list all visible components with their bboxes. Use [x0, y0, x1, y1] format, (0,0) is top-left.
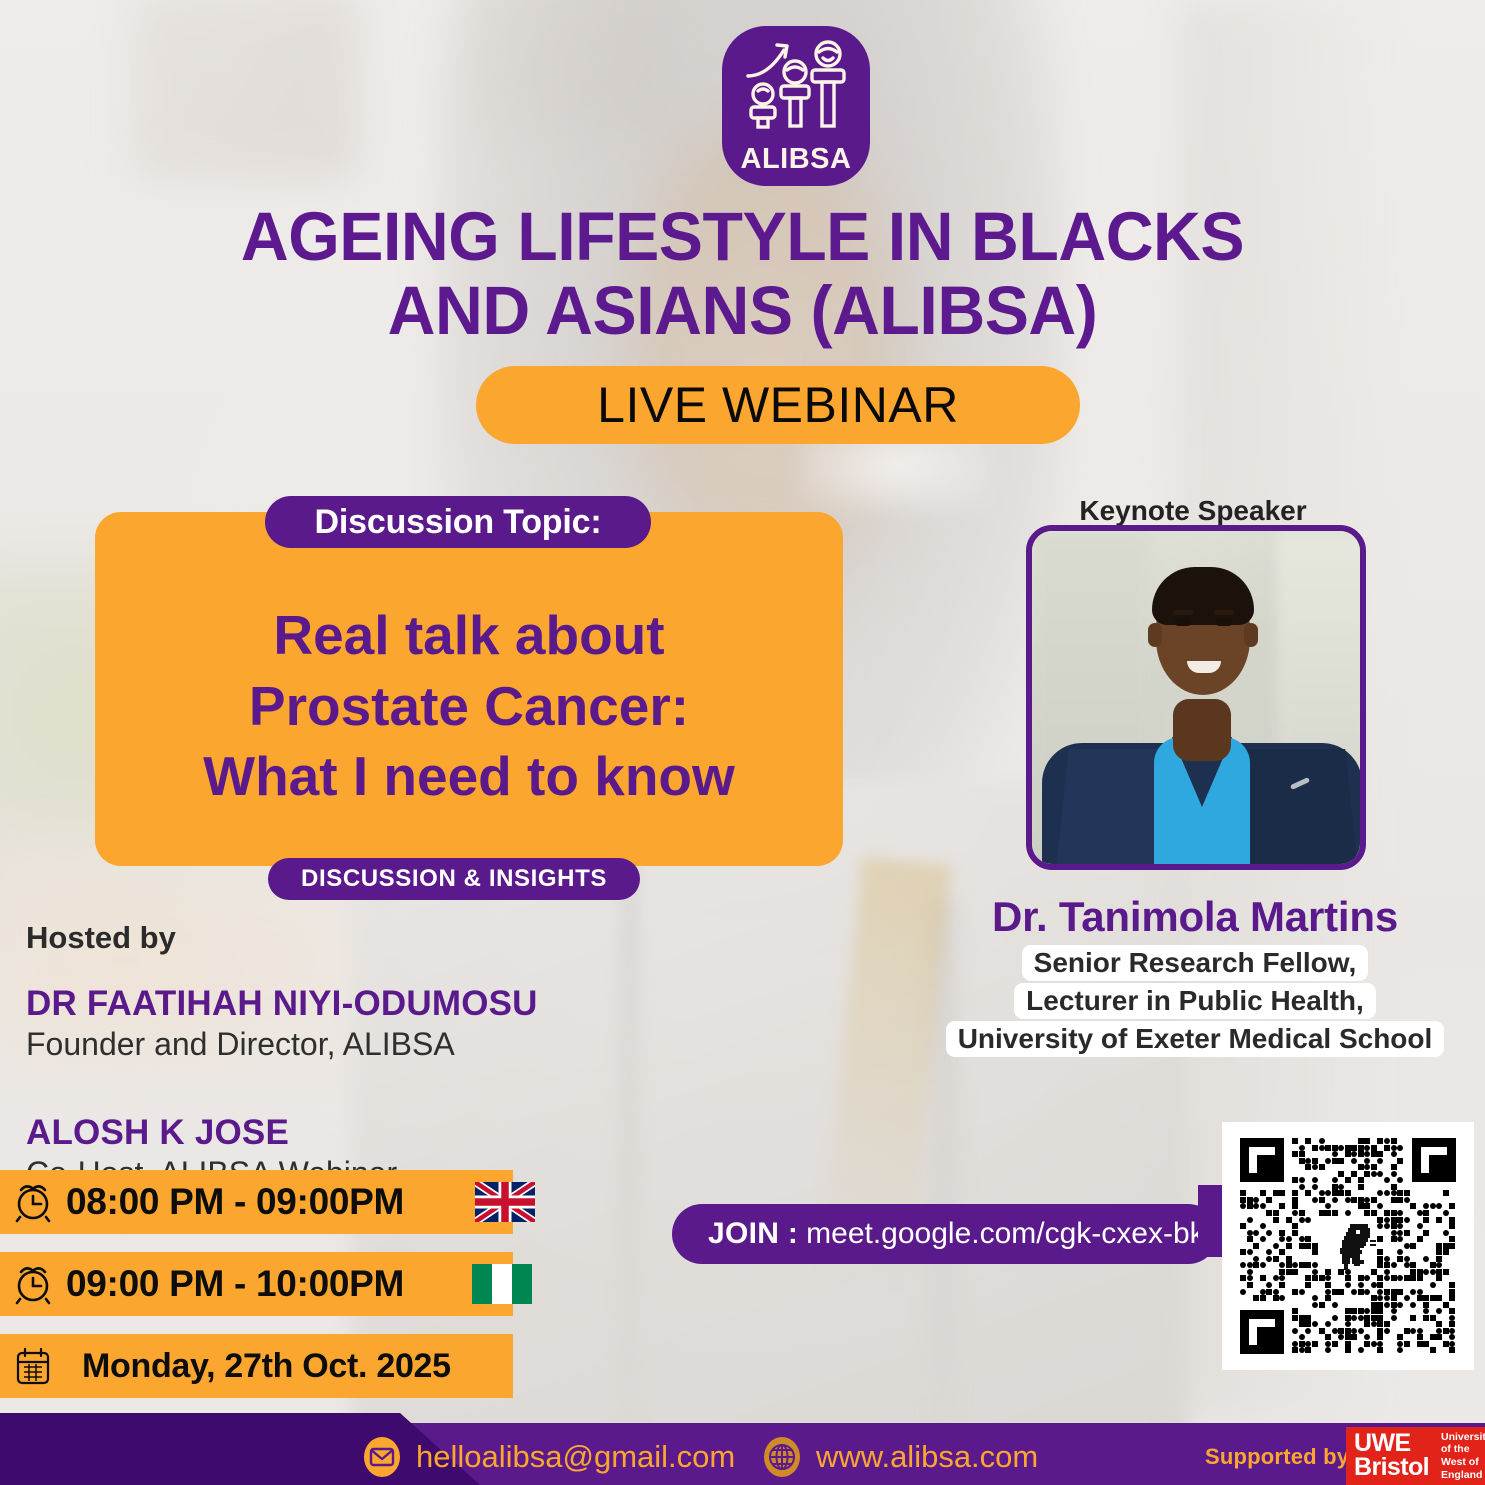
- live-webinar-label: LIVE WEBINAR: [597, 376, 959, 434]
- join-link-bar[interactable]: JOIN : meet.google.com/cgk-cxex-bkf: [672, 1204, 1218, 1264]
- host-role-1: Founder and Director, ALIBSA: [26, 1026, 666, 1063]
- join-label: JOIN :: [708, 1217, 798, 1251]
- discussion-topic-card: Real talk about Prostate Cancer: What I …: [95, 512, 843, 866]
- alarm-clock-icon: [0, 1180, 66, 1224]
- footer-email-text: helloalibsa@gmail.com: [416, 1439, 735, 1475]
- speaker-credentials: Senior Research Fellow, Lecturer in Publ…: [930, 945, 1460, 1057]
- uwe-bristol-logo: UWE Bristol Universityof theWest ofEngla…: [1346, 1427, 1485, 1485]
- speaker-name: Dr. Tanimola Martins: [950, 893, 1440, 941]
- live-webinar-badge: LIVE WEBINAR: [476, 366, 1080, 444]
- dinosaur-icon: [1326, 1222, 1378, 1272]
- logo-wordmark: ALIBSA: [741, 143, 852, 176]
- discussion-topic-label: Discussion Topic:: [315, 503, 602, 542]
- title-line-1: AGEING LIFESTYLE IN BLACKS: [30, 200, 1456, 274]
- envelope-icon: [362, 1435, 402, 1479]
- speaker-credential-2: Lecturer in Public Health,: [1014, 983, 1376, 1019]
- join-url[interactable]: meet.google.com/cgk-cxex-bkf: [806, 1217, 1213, 1251]
- footer-website[interactable]: www.alibsa.com: [762, 1435, 1038, 1479]
- discussion-topic-badge: Discussion Topic:: [265, 496, 651, 548]
- nigeria-time-text: 09:00 PM - 10:00PM: [66, 1263, 404, 1305]
- topic-line-2: Prostate Cancer:: [203, 671, 735, 741]
- calendar-icon: [0, 1345, 66, 1387]
- family-growth-icon: [740, 36, 852, 141]
- host-name-1: DR FAATIHAH NIYI-ODUMOSU: [26, 984, 666, 1024]
- footer-email[interactable]: helloalibsa@gmail.com: [362, 1435, 735, 1479]
- uk-flag-icon: [475, 1182, 535, 1222]
- schedule-row-uk-time: 08:00 PM - 09:00PM: [0, 1170, 513, 1234]
- supported-by-label: Supported by:: [1205, 1444, 1357, 1470]
- discussion-insights-badge: DISCUSSION & INSIGHTS: [268, 858, 640, 900]
- alibsa-logo: ALIBSA: [722, 26, 870, 186]
- speaker-credential-1: Senior Research Fellow,: [1022, 945, 1369, 981]
- title-line-2: AND ASIANS (ALIBSA): [30, 274, 1456, 348]
- hosted-by-label: Hosted by: [26, 920, 666, 956]
- qr-code[interactable]: [1222, 1122, 1474, 1370]
- uwe-logo-subtitle: Universityof theWest ofEngland: [1441, 1431, 1485, 1481]
- footer-website-text: www.alibsa.com: [816, 1439, 1038, 1475]
- page-title: AGEING LIFESTYLE IN BLACKS AND ASIANS (A…: [30, 200, 1456, 348]
- speaker-credential-3: University of Exeter Medical School: [946, 1021, 1445, 1057]
- hosts-section: Hosted by DR FAATIHAH NIYI-ODUMOSU Found…: [26, 920, 666, 1192]
- uwe-logo-text: UWE Bristol: [1354, 1432, 1429, 1480]
- topic-line-1: Real talk about: [203, 600, 735, 670]
- topic-line-3: What I need to know: [203, 741, 735, 811]
- uk-time-text: 08:00 PM - 09:00PM: [66, 1181, 404, 1223]
- schedule-row-nigeria-time: 09:00 PM - 10:00PM: [0, 1252, 513, 1316]
- nigeria-flag-icon: [472, 1264, 532, 1304]
- topic-text: Real talk about Prostate Cancer: What I …: [203, 566, 735, 811]
- keynote-speaker-label: Keynote Speaker: [1028, 495, 1358, 527]
- globe-icon: [762, 1435, 802, 1479]
- alarm-clock-icon: [0, 1262, 66, 1306]
- speaker-photo: [1026, 525, 1366, 870]
- date-text: Monday, 27th Oct. 2025: [82, 1347, 451, 1386]
- discussion-insights-label: DISCUSSION & INSIGHTS: [301, 865, 607, 893]
- host-name-2: ALOSH K JOSE: [26, 1113, 666, 1153]
- webinar-poster: ALIBSA AGEING LIFESTYLE IN BLACKS AND AS…: [0, 0, 1485, 1485]
- schedule-row-date: Monday, 27th Oct. 2025: [0, 1334, 513, 1398]
- purple-accent-tab: [1198, 1185, 1224, 1257]
